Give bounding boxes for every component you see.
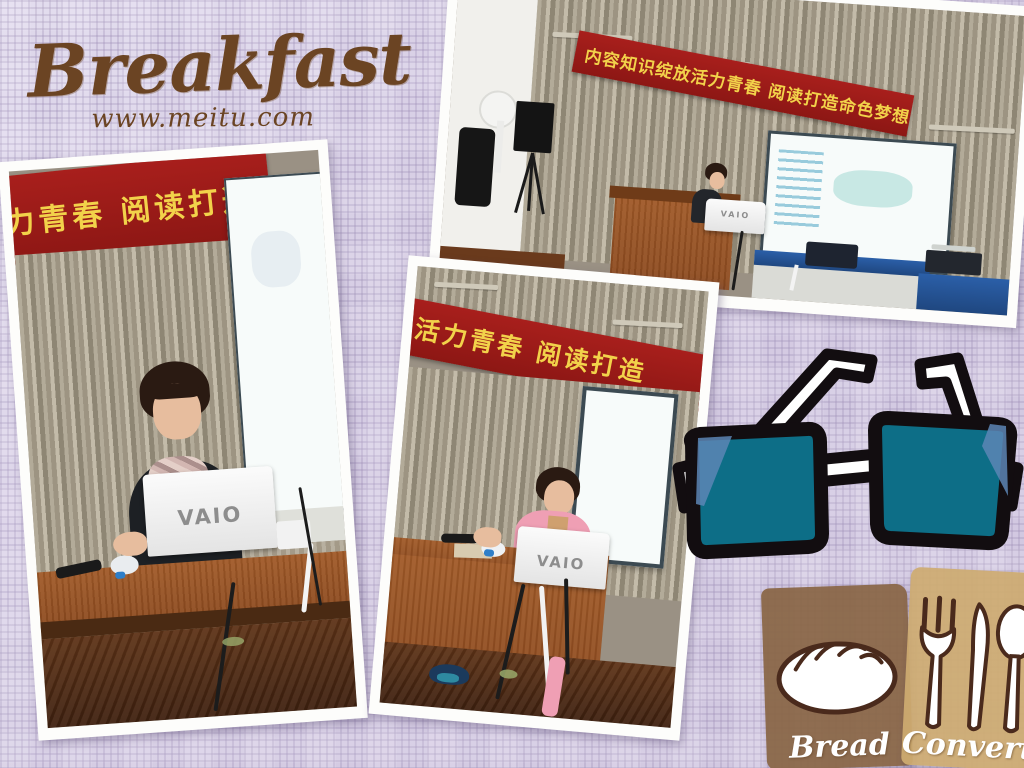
photo-woman-at-podium-image: 活力青春 阅读打造 VAIO	[380, 266, 709, 728]
collage-canvas: Breakfast www.meitu.com 内容知识绽放活力青	[0, 0, 1024, 768]
photo2-laptop: VAIO	[142, 466, 277, 557]
convert-card-label: Convert	[901, 726, 1024, 768]
convert-card-sticker[interactable]: Convert	[901, 567, 1024, 768]
photo-woman-at-desk[interactable]: 力青春 阅读打造 VAIO	[0, 139, 368, 741]
watermark-url: www.meitu.com	[91, 101, 413, 134]
fork-knife-spoon-icon	[902, 585, 1024, 742]
photo2-banner-text: 力青春 阅读打造	[9, 173, 258, 243]
photo2-laptop-brand: VAIO	[144, 500, 275, 533]
bread-card-sticker[interactable]: Bread	[761, 584, 913, 768]
title-block: Breakfast www.meitu.com	[26, 21, 413, 140]
bread-card-label: Bread	[766, 726, 913, 766]
sunglasses-sticker[interactable]	[672, 326, 1024, 576]
sunglasses-icon	[672, 326, 1024, 576]
bread-loaf-icon	[762, 605, 912, 740]
photo-woman-at-podium[interactable]: 活力青春 阅读打造 VAIO	[369, 255, 720, 740]
photo-woman-at-desk-image: 力青春 阅读打造 VAIO	[9, 150, 357, 728]
page-title: Breakfast	[26, 21, 412, 108]
photo3-laptop-brand: VAIO	[514, 549, 607, 575]
photo3-laptop: VAIO	[513, 526, 610, 590]
